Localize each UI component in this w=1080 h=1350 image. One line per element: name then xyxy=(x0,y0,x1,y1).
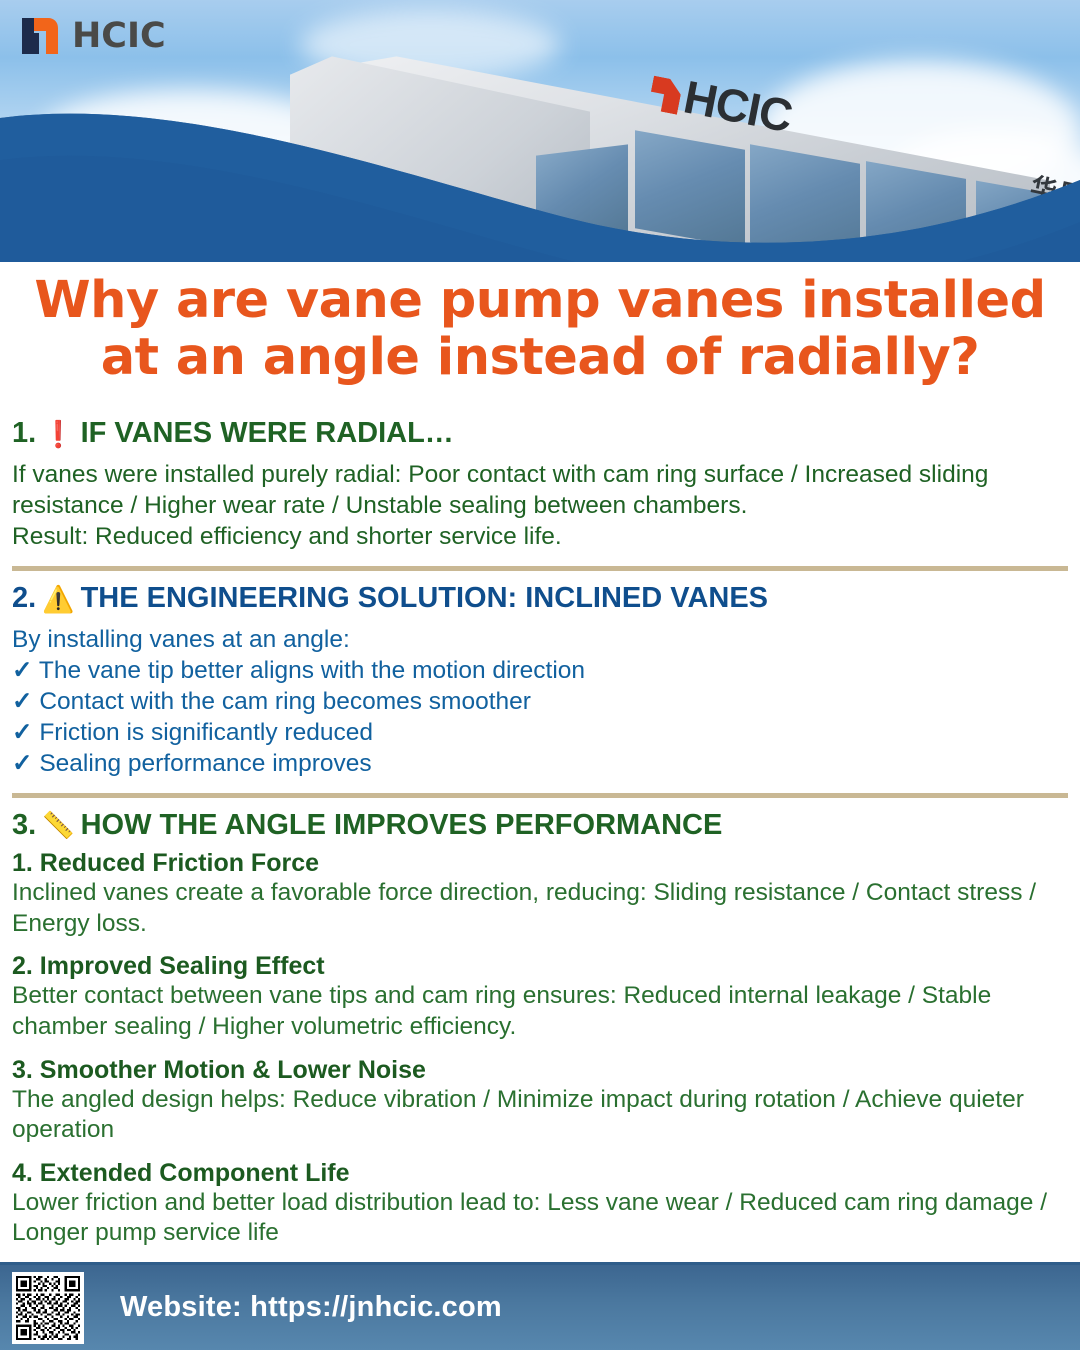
section-3-items: 1. Reduced Friction Force Inclined vanes… xyxy=(12,849,1068,1249)
list-item: ✓ Friction is significantly reduced xyxy=(12,718,1068,749)
section-1-line-1: If vanes were installed purely radial: P… xyxy=(12,460,1068,522)
section-3-item: 2. Improved Sealing Effect Better contac… xyxy=(12,952,1068,1042)
section-2-body: By installing vanes at an angle: ✓ The v… xyxy=(12,625,1068,779)
check-icon: ✓ xyxy=(12,688,33,715)
section-1-body: If vanes were installed purely radial: P… xyxy=(12,460,1068,553)
content-body: 1. ❗ IF VANES WERE RADIAL… If vanes were… xyxy=(0,416,1080,1249)
blue-wave-divider xyxy=(0,104,1080,262)
section-3-item-2-title: 2. Improved Sealing Effect xyxy=(12,952,1068,981)
section-3-item-3-title: 3. Smoother Motion & Lower Noise xyxy=(12,1056,1068,1085)
section-2-bullet-2: Contact with the cam ring becomes smooth… xyxy=(39,688,531,715)
check-icon: ✓ xyxy=(12,657,33,684)
check-icon: ✓ xyxy=(12,719,33,746)
page-title: Why are vane pump vanes installed at an … xyxy=(0,272,1080,386)
section-2-bullet-4: Sealing performance improves xyxy=(39,750,371,777)
section-2-heading-text: THE ENGINEERING SOLUTION: INCLINED VANES xyxy=(81,581,768,616)
hcic-logo-icon xyxy=(18,16,62,56)
section-3-heading: 3. 📏 HOW THE ANGLE IMPROVES PERFORMANCE xyxy=(12,808,1068,843)
red-exclamation-icon: ❗ xyxy=(42,421,74,447)
poster-root: HCIC 华辰重工 HCIC Why are vane pump vanes i… xyxy=(0,0,1080,1350)
header-logo: HCIC xyxy=(18,16,166,56)
section-3-item-2-text: Better contact between vane tips and cam… xyxy=(12,981,1068,1042)
section-3-heading-text: HOW THE ANGLE IMPROVES PERFORMANCE xyxy=(81,808,723,843)
list-item: ✓ The vane tip better aligns with the mo… xyxy=(12,656,1068,687)
section-1-heading: 1. ❗ IF VANES WERE RADIAL… xyxy=(12,416,1068,451)
warning-triangle-icon: ⚠️ xyxy=(42,586,74,612)
section-3-number: 3. xyxy=(12,808,36,843)
section-2-bullet-3: Friction is significantly reduced xyxy=(39,719,373,746)
logo-wordmark: HCIC xyxy=(72,16,166,56)
section-1: 1. ❗ IF VANES WERE RADIAL… If vanes were… xyxy=(12,416,1068,553)
section-3: 3. 📏 HOW THE ANGLE IMPROVES PERFORMANCE … xyxy=(12,808,1068,1249)
section-2-bullet-1: The vane tip better aligns with the moti… xyxy=(39,657,585,684)
section-3-item-3-text: The angled design helps: Reduce vibratio… xyxy=(12,1085,1068,1146)
section-2: 2. ⚠️ THE ENGINEERING SOLUTION: INCLINED… xyxy=(12,581,1068,780)
section-1-number: 1. xyxy=(12,416,36,451)
section-3-item: 4. Extended Component Life Lower frictio… xyxy=(12,1159,1068,1249)
section-divider xyxy=(12,793,1068,798)
section-3-item-4-text: Lower friction and better load distribut… xyxy=(12,1188,1068,1249)
check-icon: ✓ xyxy=(12,750,33,777)
ruler-icon: 📏 xyxy=(42,812,74,838)
section-3-item-4-title: 4. Extended Component Life xyxy=(12,1159,1068,1188)
section-1-line-2: Result: Reduced efficiency and shorter s… xyxy=(12,522,1068,553)
section-1-heading-text: IF VANES WERE RADIAL… xyxy=(81,416,454,451)
website-label: Website: https://jnhcic.com xyxy=(120,1291,502,1324)
section-3-item-1-text: Inclined vanes create a favorable force … xyxy=(12,878,1068,939)
section-3-item: 1. Reduced Friction Force Inclined vanes… xyxy=(12,849,1068,939)
section-divider xyxy=(12,566,1068,571)
section-2-intro: By installing vanes at an angle: xyxy=(12,625,1068,656)
footer-bar: Website: https://jnhcic.com xyxy=(0,1262,1080,1350)
qr-code[interactable] xyxy=(12,1272,84,1344)
section-3-item: 3. Smoother Motion & Lower Noise The ang… xyxy=(12,1056,1068,1146)
list-item: ✓ Contact with the cam ring becomes smoo… xyxy=(12,687,1068,718)
hero-banner: HCIC 华辰重工 HCIC xyxy=(0,0,1080,262)
section-2-heading: 2. ⚠️ THE ENGINEERING SOLUTION: INCLINED… xyxy=(12,581,1068,616)
section-2-number: 2. xyxy=(12,581,36,616)
section-3-item-1-title: 1. Reduced Friction Force xyxy=(12,849,1068,878)
list-item: ✓ Sealing performance improves xyxy=(12,749,1068,780)
